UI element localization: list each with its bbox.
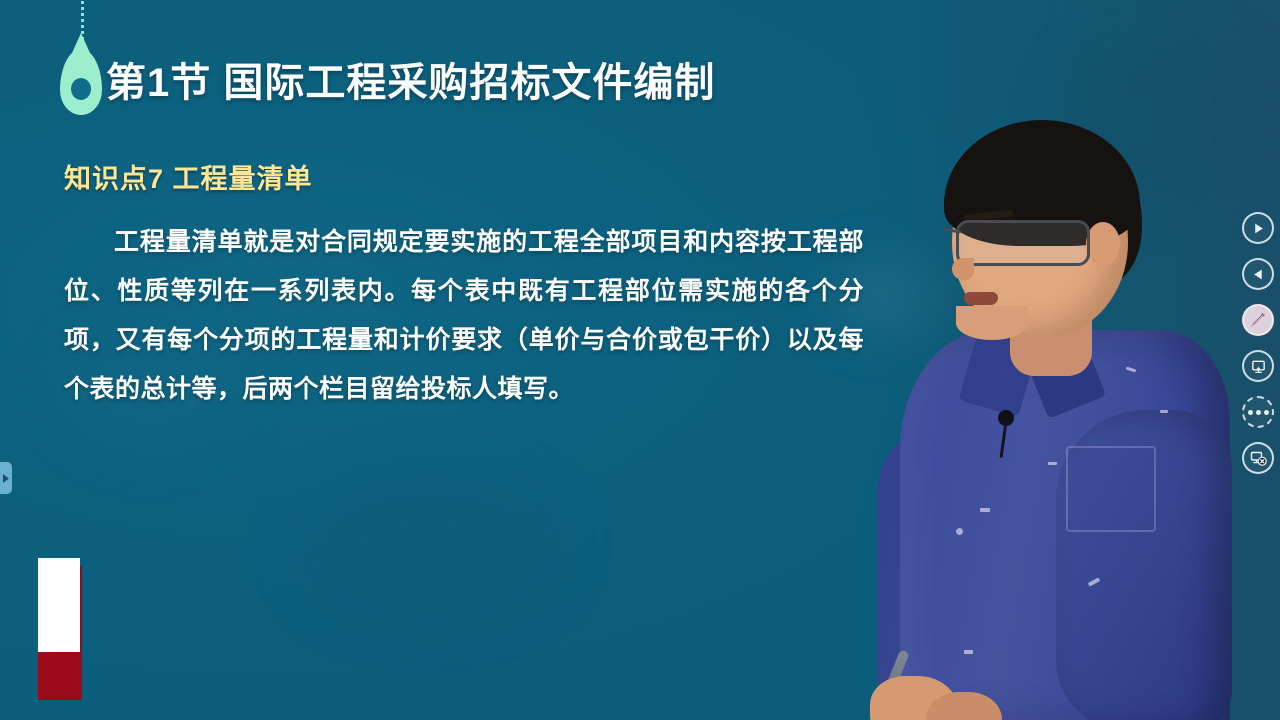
- watermark-red-block: [38, 652, 82, 700]
- presenter-chin: [956, 306, 1028, 340]
- presenter-nose: [952, 258, 974, 280]
- shirt-highlight: [964, 650, 973, 654]
- section-subtitle: 知识点7 工程量清单: [64, 157, 313, 196]
- drop-hole: [71, 78, 91, 100]
- presenter-shirt-pocket: [1066, 446, 1156, 532]
- presenter-video: [860, 110, 1280, 720]
- screen-share-icon[interactable]: [1242, 350, 1274, 382]
- slide-stage: 第1节 国际工程采购招标文件编制 知识点7 工程量清单 工程量清单就是对合同规定…: [0, 0, 1280, 720]
- expand-panel-icon[interactable]: [0, 462, 12, 494]
- play-icon[interactable]: [1242, 212, 1274, 244]
- page-title: 第1节 国际工程采购招标文件编制: [106, 50, 715, 108]
- shirt-highlight: [1048, 462, 1057, 465]
- shirt-highlight: [1160, 410, 1168, 413]
- stop-share-icon[interactable]: [1242, 442, 1274, 474]
- presenter-ear: [1086, 222, 1120, 266]
- previous-icon[interactable]: [1242, 258, 1274, 290]
- floating-toolbar[interactable]: [1238, 212, 1278, 474]
- presenter-mouth: [964, 292, 998, 305]
- shirt-highlight: [956, 528, 963, 535]
- body-paragraph: 工程量清单就是对合同规定要实施的工程全部项目和内容按工程部位、性质等列在一系列表…: [64, 218, 864, 414]
- watermark-white-block: [38, 558, 80, 652]
- pen-icon[interactable]: [1242, 304, 1274, 336]
- hanging-drop-ornament: [60, 0, 104, 126]
- corner-watermark: [38, 558, 82, 700]
- more-icon[interactable]: [1242, 396, 1274, 428]
- presenter-glasses: [956, 220, 1090, 266]
- more-dots: [1248, 410, 1269, 415]
- shirt-highlight: [980, 508, 990, 512]
